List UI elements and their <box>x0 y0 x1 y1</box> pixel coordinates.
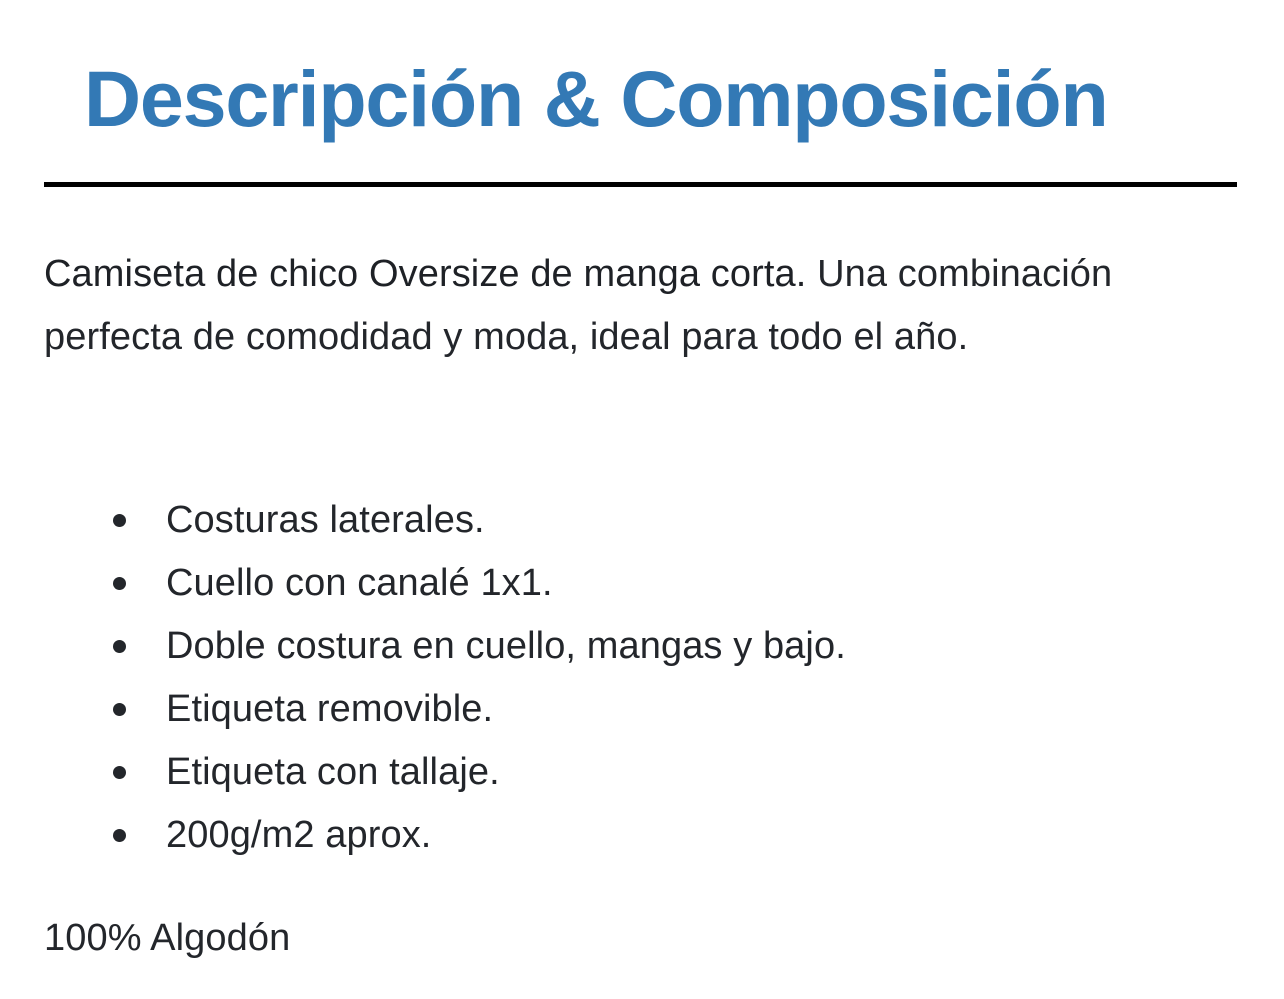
bullet-icon <box>113 829 126 842</box>
page-title: Descripción & Composición <box>84 58 1108 141</box>
list-item: Cuello con canalé 1x1. <box>113 552 1193 615</box>
description-block: Camiseta de chico Oversize de manga cort… <box>44 243 1154 369</box>
description-paragraph: Camiseta de chico Oversize de manga cort… <box>44 243 1154 369</box>
list-item: Doble costura en cuello, mangas y bajo. <box>113 615 1193 678</box>
list-item: Etiqueta con tallaje. <box>113 741 1193 804</box>
list-item-label: Costuras laterales. <box>166 499 485 541</box>
composition-value: 100% Algodón <box>44 907 290 970</box>
list-item-label: Doble costura en cuello, mangas y bajo. <box>166 625 846 667</box>
bullet-icon <box>113 514 126 527</box>
list-item-label: Etiqueta removible. <box>166 688 493 730</box>
bullet-icon <box>113 577 126 590</box>
title-divider <box>44 182 1237 187</box>
list-item: Costuras laterales. <box>113 489 1193 552</box>
list-item-label: Cuello con canalé 1x1. <box>166 562 553 604</box>
description-lead-sentence: Camiseta de chico Oversize de manga cort… <box>44 253 806 295</box>
list-item-label: Etiqueta con tallaje. <box>166 751 500 793</box>
list-item: Etiqueta removible. <box>113 678 1193 741</box>
product-description-panel: Descripción & Composición Camiseta de ch… <box>0 0 1284 999</box>
bullet-icon <box>113 640 126 653</box>
list-item-label: 200g/m2 aprox. <box>166 814 431 856</box>
feature-list: Costuras laterales. Cuello con canalé 1x… <box>113 489 1193 867</box>
bullet-icon <box>113 703 126 716</box>
bullet-icon <box>113 766 126 779</box>
list-item: 200g/m2 aprox. <box>113 804 1193 867</box>
